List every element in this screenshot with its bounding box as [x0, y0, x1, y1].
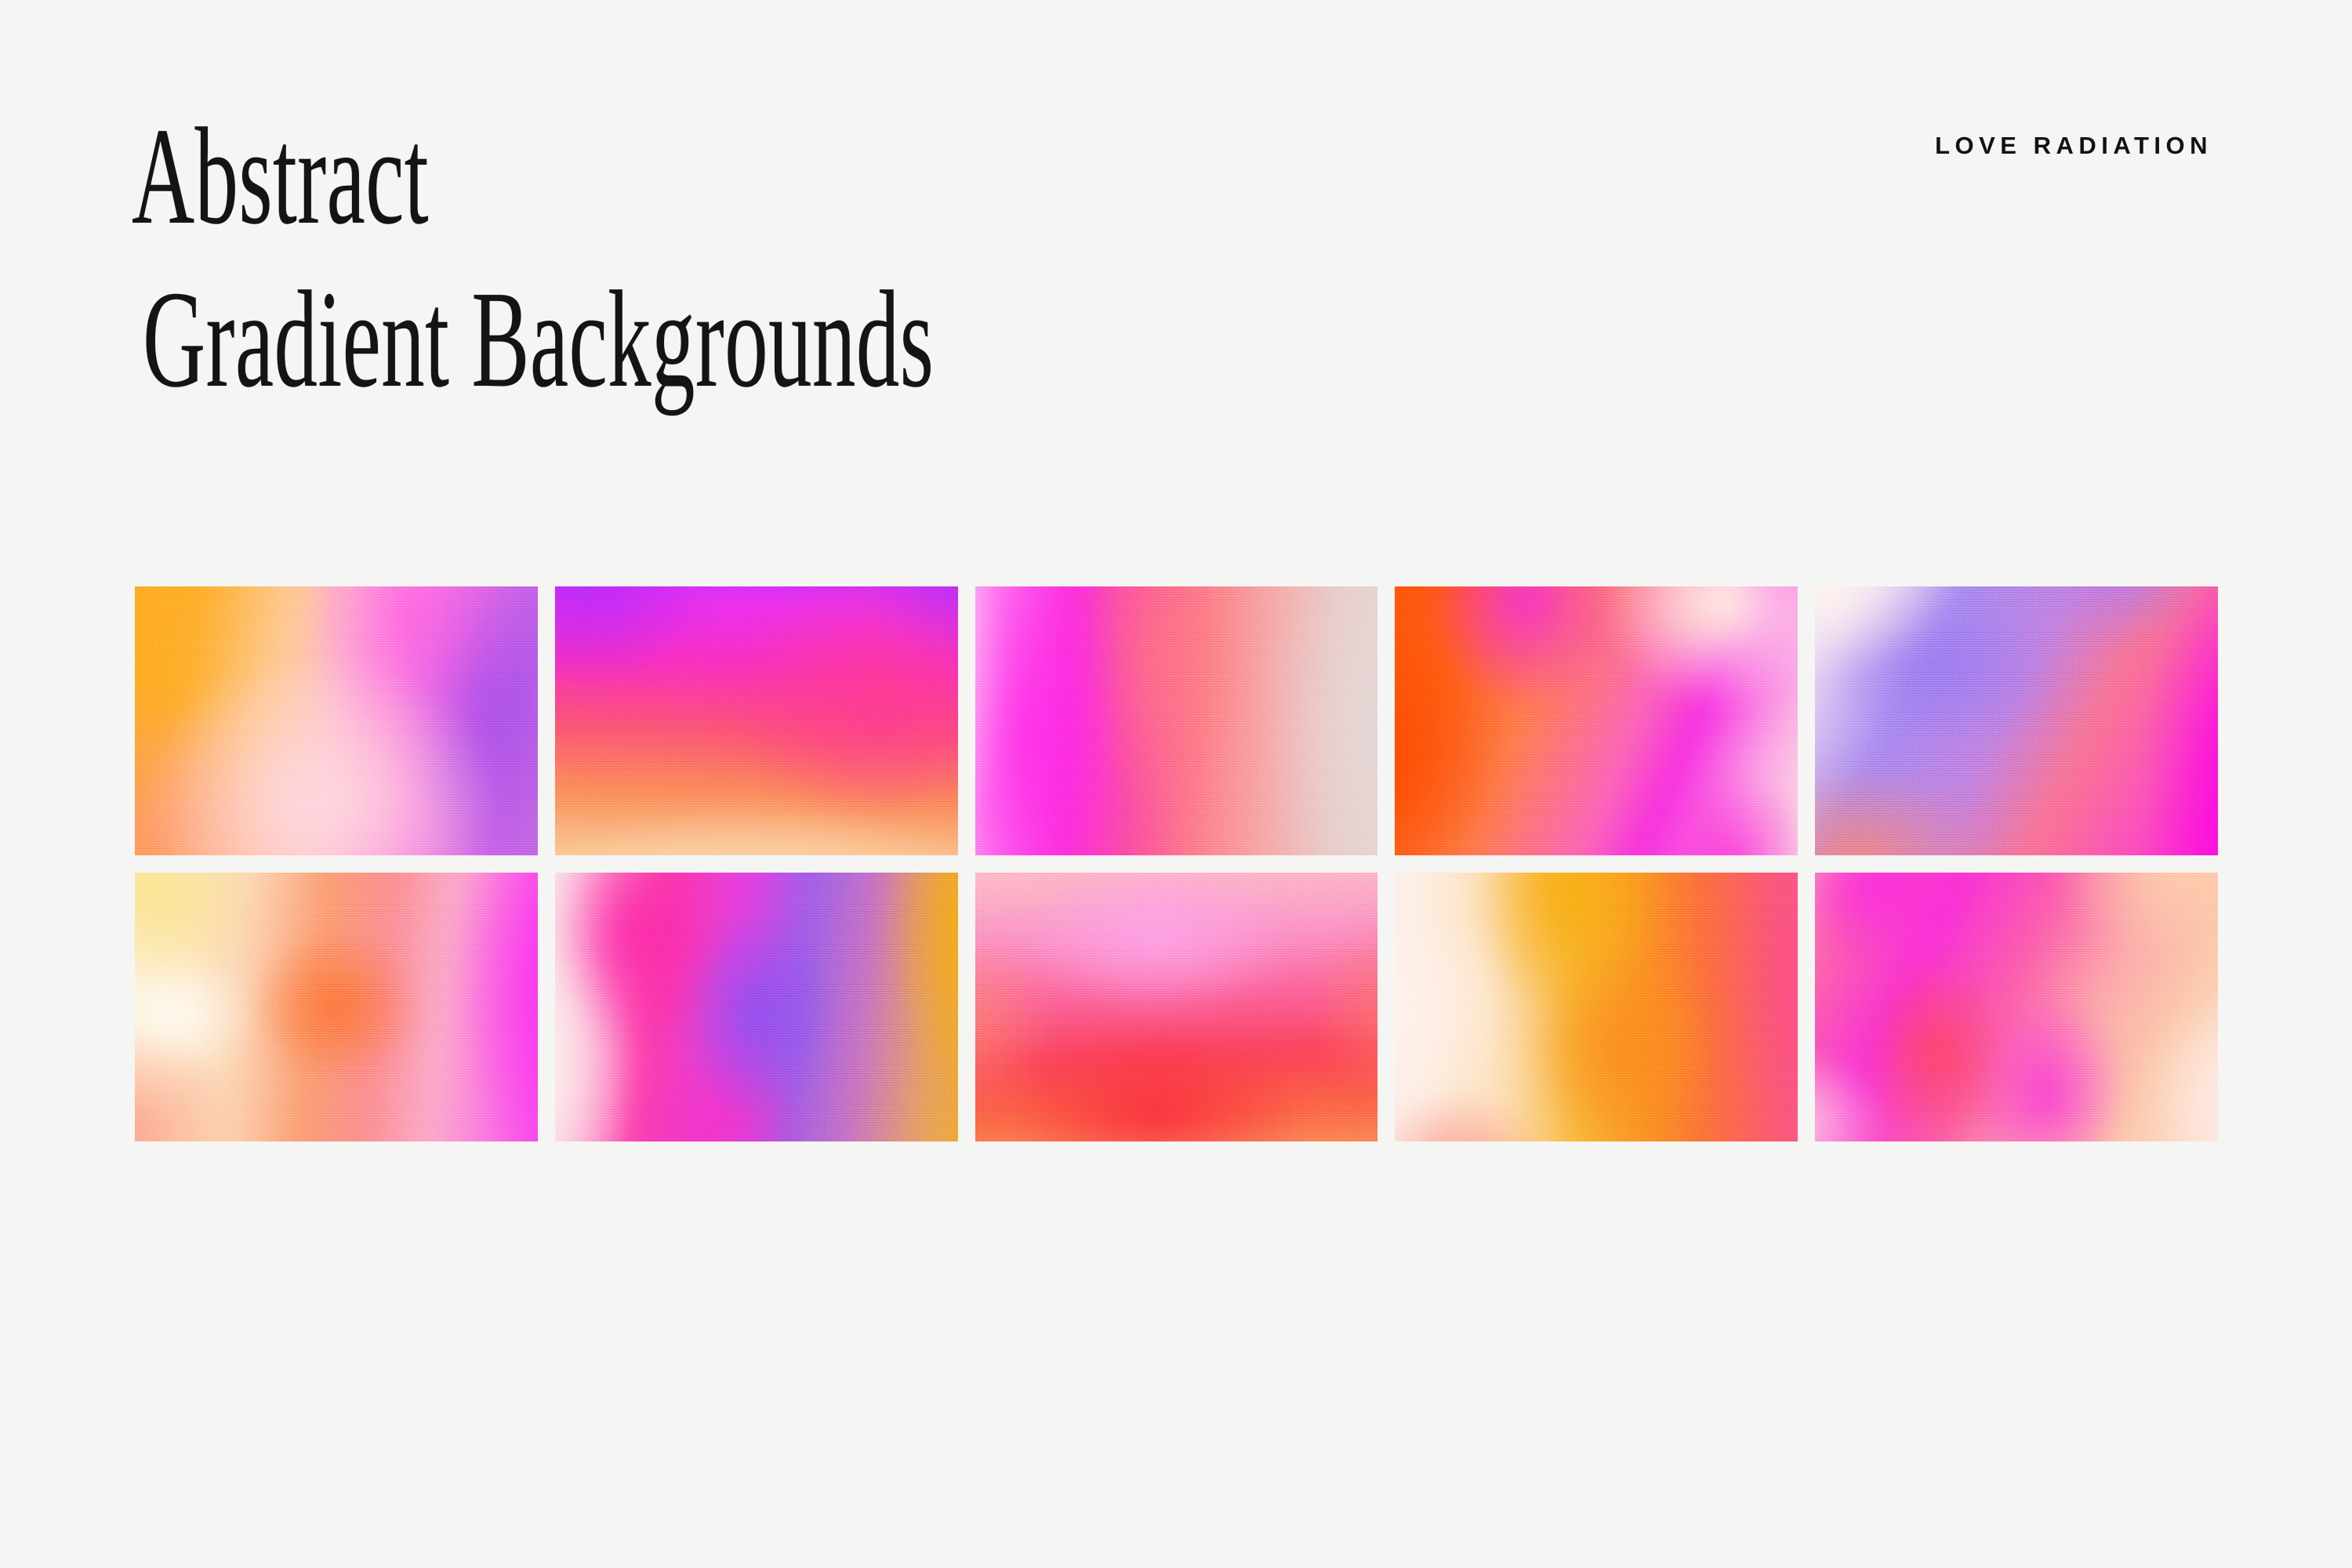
- gradient-blob-layer: [1815, 586, 2218, 855]
- gradient-thumbnail-5[interactable]: [1815, 586, 2218, 855]
- page-title-line-2: Gradient Backgrounds: [143, 270, 1063, 409]
- gradient-thumbnail-2[interactable]: [555, 586, 958, 855]
- gradient-thumbnail-4[interactable]: [1395, 586, 1798, 855]
- gradient-blob-layer: [1395, 586, 1798, 855]
- gradient-blob-layer: [135, 586, 538, 855]
- page-title: Abstract Gradient Backgrounds: [132, 118, 1386, 398]
- page-title-line-1: Abstract: [132, 107, 1060, 246]
- gradient-blob-layer: [1815, 873, 2218, 1142]
- gradient-blob-layer: [555, 586, 958, 855]
- brand-label: LOVE RADIATION: [1935, 132, 2212, 160]
- gradient-thumbnail-8[interactable]: [975, 873, 1378, 1142]
- gradient-blob-layer: [1395, 873, 1798, 1142]
- gradient-thumbnail-6[interactable]: [135, 873, 538, 1142]
- gradient-thumbnail-7[interactable]: [555, 873, 958, 1142]
- gradient-blob-layer: [135, 873, 538, 1142]
- gradient-thumbnail-1[interactable]: [135, 586, 538, 855]
- header: Abstract Gradient Backgrounds LOVE RADIA…: [0, 0, 2352, 486]
- gradient-thumbnail-9[interactable]: [1395, 873, 1798, 1142]
- gradient-blob-layer: [975, 873, 1378, 1142]
- footer: 1-10 Ready To Use & Fully Editable Quant…: [0, 1254, 2352, 1568]
- gradient-blob-layer: [555, 873, 958, 1142]
- gradient-thumbnail-3[interactable]: [975, 586, 1378, 855]
- gradient-thumbnail-10[interactable]: [1815, 873, 2218, 1142]
- gradient-gallery-grid: [135, 586, 2218, 1142]
- gradient-blob-layer: [975, 586, 1378, 855]
